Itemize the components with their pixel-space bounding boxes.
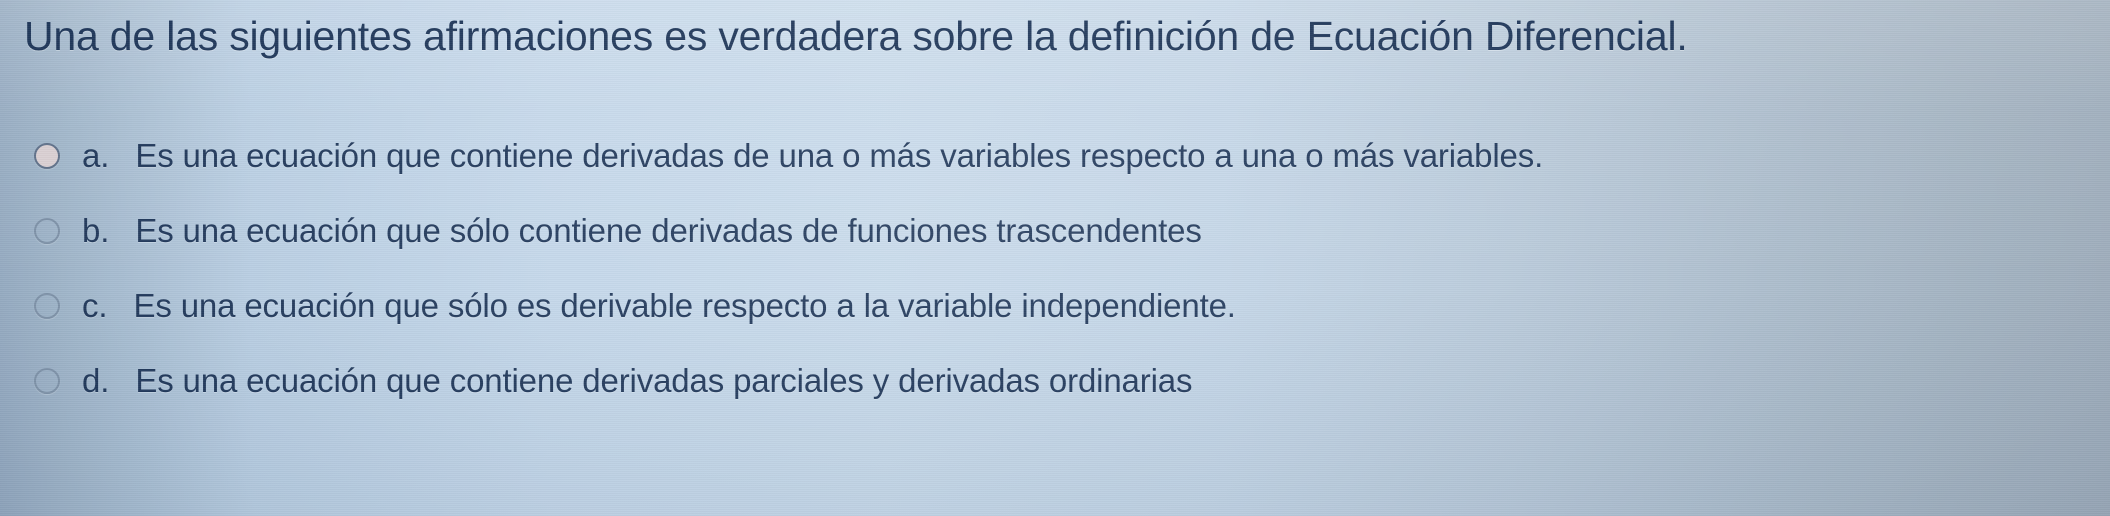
answer-option-b[interactable]: b. Es una ecuación que sólo contiene der…: [0, 193, 2110, 268]
quiz-question-screen: Una de las siguientes afirmaciones es ve…: [0, 0, 2110, 516]
answer-text-d: Es una ecuación que contiene derivadas p…: [135, 362, 2110, 400]
answer-option-d[interactable]: d. Es una ecuación que contiene derivada…: [0, 343, 2110, 418]
radio-button-a[interactable]: [34, 143, 60, 169]
answer-option-c[interactable]: c. Es una ecuación que sólo es derivable…: [0, 268, 2110, 343]
answer-text-b: Es una ecuación que sólo contiene deriva…: [135, 212, 2110, 250]
answer-option-a[interactable]: a. Es una ecuación que contiene derivada…: [0, 118, 2110, 193]
question-stem: Una de las siguientes afirmaciones es ve…: [24, 14, 2094, 58]
answer-text-c: Es una ecuación que sólo es derivable re…: [133, 287, 2110, 325]
answer-letter-c: c.: [82, 287, 107, 325]
answer-letter-d: d.: [82, 362, 109, 400]
radio-button-b[interactable]: [34, 218, 60, 244]
answer-text-a: Es una ecuación que contiene derivadas d…: [135, 137, 2110, 175]
answer-letter-b: b.: [82, 212, 109, 250]
radio-button-c[interactable]: [34, 293, 60, 319]
answer-letter-a: a.: [82, 137, 109, 175]
radio-button-d[interactable]: [34, 368, 60, 394]
answer-options-list: a. Es una ecuación que contiene derivada…: [0, 118, 2110, 418]
